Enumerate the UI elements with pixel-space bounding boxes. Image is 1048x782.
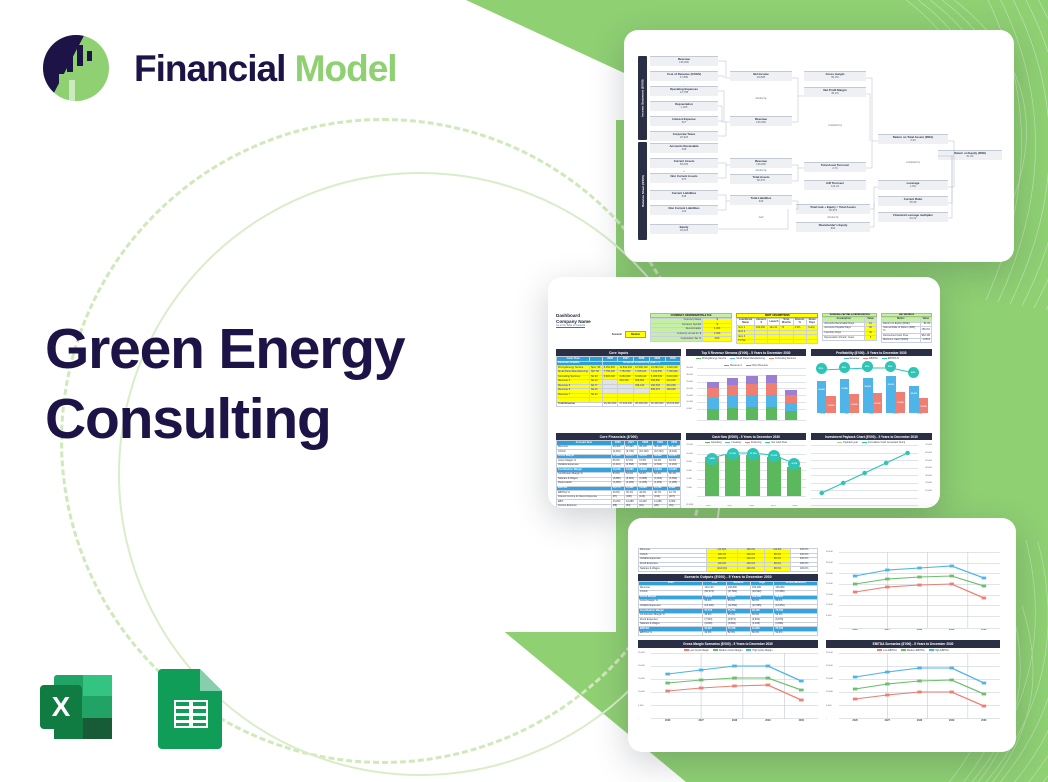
core-financials-body: Revenue26,46027,40028,40030,10025,100 CO… [557, 445, 681, 508]
scenario-left-column: Revenue(10.0)%100.0%110.0%100.0% COGS105… [638, 548, 818, 636]
data-bubble: 53% [862, 361, 873, 372]
scenario-label: Scenario [612, 333, 622, 336]
dashboard-middle-row: Core Inputs Cash Flow 2026 2027 2028 202… [556, 349, 932, 427]
chart-x-axis: 2026 2027 2028 2029 2030 [811, 505, 918, 507]
data-bubble: 51% [816, 363, 827, 374]
chart-legend: Pricing/Energy Service Small Panel Manuf… [686, 356, 805, 368]
scenario-value-cell[interactable]: Medium [625, 331, 646, 337]
core-inputs-title: Core Inputs [556, 349, 681, 356]
chart-plot-area: 25,000 20,000 15,000 10,000 5,000 - [651, 653, 818, 719]
scenario-bottom-row: Gross Margin Scenarios ($'000) - 5 Years… [638, 640, 1006, 721]
dupont-connectors [638, 56, 1004, 242]
core-financials-title: Core Financials ($'000) [556, 433, 681, 440]
dashboard-sheet: Dashboard Company Name Go to the Table o… [548, 277, 940, 508]
microsoft-excel-icon: X [32, 663, 120, 756]
dashboard-toc-link[interactable]: Go to the Table of Contents [556, 324, 646, 327]
chart-x-axis: 2026 2027 2028 2029 2030 [839, 628, 1000, 631]
core-financials-panel: Core Financials ($'000) Account Item 202… [556, 433, 681, 508]
panel-working-capital-depreciation: WORKING CAPITAL & DEPRECIATION Assumptio… [822, 313, 877, 341]
panel-currency-denomination-tax: CURRENCY, DENOMINATION & TAX Currency Na… [650, 313, 732, 342]
panel-key-metrics: KEY METRICS Metric Value Return on Equit… [881, 313, 932, 343]
page-title-line-1: Green Energy [45, 317, 404, 381]
chart-plot-area: 51% 52% 53% 53% 48% 26,460 13,500 27,400… [811, 361, 932, 413]
scenario-outputs-title: Scenario Outputs ($'000) - 5 Years to De… [638, 574, 818, 581]
chart-investment-payback: Investment Payback Chart ($'000) - 5 Yea… [811, 433, 932, 508]
scenario-outputs-table: 2030 Low Medium High Active (Medium) Rev… [638, 581, 818, 636]
page-title: Green Energy Consulting [45, 315, 475, 454]
data-bubble: 52% [839, 362, 850, 373]
data-bubble: 11,100 [768, 450, 780, 462]
chart-x-axis: 2026 2027 2028 2029 2030 [651, 719, 818, 722]
data-bubble: 48% [908, 367, 919, 378]
circle-bar-chart-logo-icon [36, 28, 116, 108]
dashboard-bottom-row: Core Financials ($'000) Account Item 202… [556, 433, 932, 508]
chart-x-axis: 2026 2027 2028 2029 2030 [697, 505, 805, 507]
chart-plot-area: 35,000 30,000 25,000 20,000 15,000 10,00… [839, 552, 1000, 628]
chart-plot-area: 35,000 30,000 25,000 20,000 15,000 10,00… [697, 368, 805, 420]
chart-plot-area: 25,000 20,000 15,000 10,000 5,000 - [839, 653, 1000, 719]
logo-word-financial: Financial [134, 48, 285, 89]
data-bubble: 53% [885, 361, 896, 372]
google-sheets-icon [156, 663, 226, 756]
dashboard-header-row: Dashboard Company Name Go to the Table o… [556, 313, 932, 343]
chart-x-axis: 2026 2027 2028 2029 2030 [839, 719, 1000, 722]
chart-x-axis: 2026 2027 2028 2029 2030 [697, 420, 805, 422]
core-inputs-panel: Core Inputs Cash Flow 2026 2027 2028 202… [556, 349, 681, 427]
data-bubble: 11,700 [727, 448, 739, 460]
chart-cash-flow: Cash flow ($'000) - 5 Years to December … [686, 433, 805, 508]
scenario-assumptions-table: Revenue(10.0)%100.0%110.0%100.0% COGS105… [638, 548, 818, 572]
table-row: EBITDA %42.3%52.0%60.0%52.0% [639, 631, 818, 636]
dupont-tree: Income Statement ($'000) Balance Sheet (… [638, 56, 1004, 242]
dashboard-title-block: Dashboard Company Name Go to the Table o… [556, 313, 646, 338]
chart-plot-area: 70,000 60,000 50,000 40,000 30,000 20,00… [811, 445, 918, 505]
promo-banner: Financial Model Green Energy Consulting … [0, 0, 1048, 782]
chart-profitability: Profitability ($'000) - 5 Years to Decem… [811, 349, 932, 427]
svg-text:X: X [52, 691, 71, 722]
scenario-sheet: Revenue(10.0)%100.0%110.0%100.0% COGS105… [628, 518, 1016, 752]
supported-app-icons: X [32, 663, 226, 756]
screenshot-card-dupont-analysis[interactable]: Income Statement ($'000) Balance Sheet (… [624, 30, 1014, 262]
panel-debt-assumptions: DEBT ASSUMPTIONS Loan/Grant Name Amount,… [736, 313, 818, 344]
brand-logo-text: Financial Model [134, 50, 397, 87]
chart-ebitda-scenarios: EBITDA Scenarios ($'000) - 5 Years to De… [826, 640, 1000, 721]
chart-top-revenue-streams: Top 5 Revenue Streams ($'000) - 5 Years … [686, 349, 805, 427]
chart-gross-margin-scenarios: Gross Margin Scenarios ($'000) - 5 Years… [638, 640, 818, 721]
chart-plot-area: 12,000 10,000 8,000 6,000 4,000 2,000 - … [697, 445, 805, 505]
page-title-line-2: Consulting [45, 385, 475, 455]
chart-revenue-scenarios: 35,000 30,000 25,000 20,000 15,000 10,00… [826, 548, 1000, 636]
screenshot-card-dashboard[interactable]: Dashboard Company Name Go to the Table o… [548, 277, 940, 508]
brand-logo: Financial Model [36, 28, 397, 108]
chart-x-axis: 2026 2027 2028 2029 2030 [811, 413, 932, 415]
screenshot-card-scenario-outputs[interactable]: Revenue(10.0)%100.0%110.0%100.0% COGS105… [628, 518, 1016, 752]
logo-word-model: Model [295, 48, 397, 89]
dupont-sheet: Income Statement ($'000) Balance Sheet (… [624, 30, 1014, 262]
scenario-top-row: Revenue(10.0)%100.0%110.0%100.0% COGS105… [638, 548, 1006, 636]
